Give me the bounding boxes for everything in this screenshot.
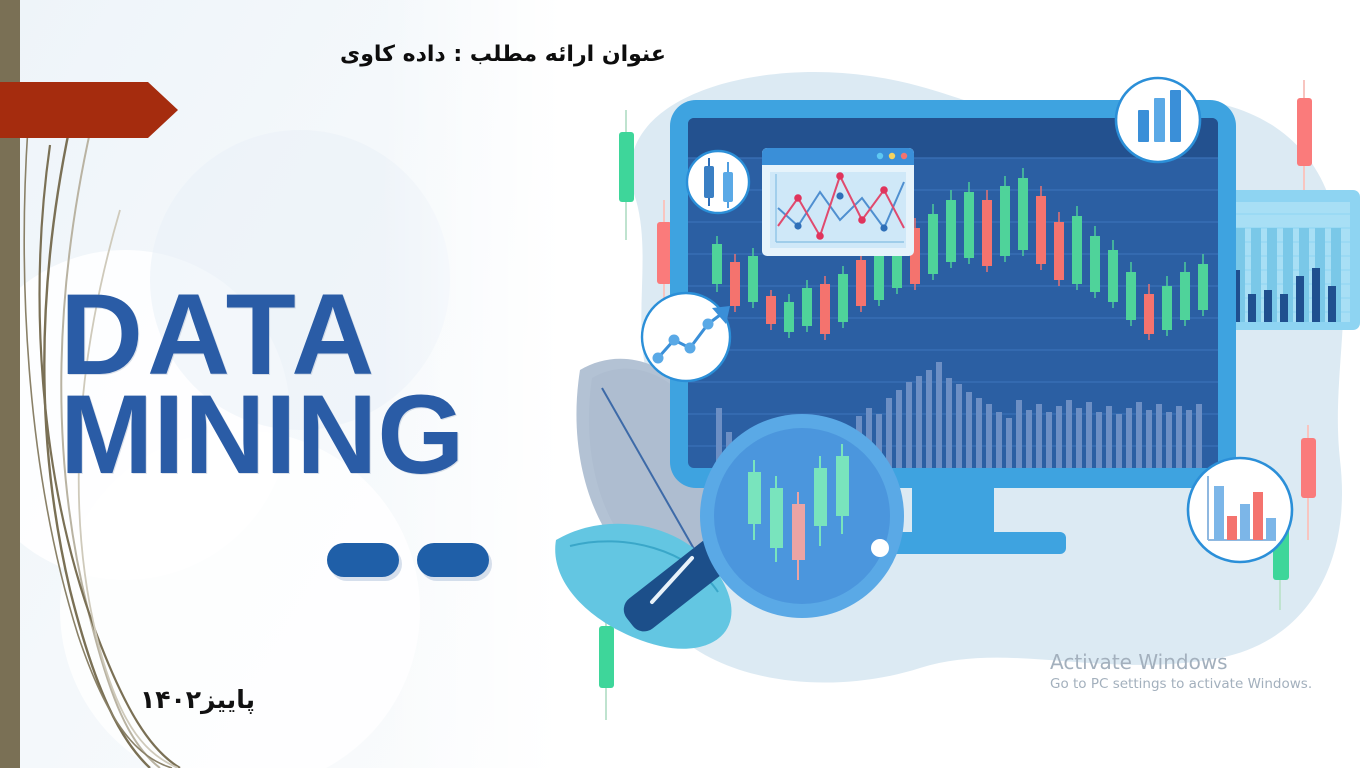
watermark-subtitle: Go to PC settings to activate Windows.	[1050, 674, 1350, 694]
bar-chart-icon	[1138, 110, 1149, 142]
logo-pill-1	[327, 543, 399, 577]
candlestick-icon-circle	[687, 151, 749, 213]
candlestick-icon	[704, 166, 714, 198]
bar-chart-color-icon-circle	[1188, 458, 1292, 562]
line-chart-window	[762, 148, 914, 256]
bar-chart-icon-circle	[1116, 78, 1200, 162]
bar-chart-color-icon	[1214, 486, 1224, 540]
red-arrow-banner	[0, 82, 178, 138]
window-dot-blue	[877, 153, 883, 159]
trending-up-icon-circle	[642, 293, 730, 381]
data-mining-logo: DATA MINING	[60, 283, 510, 486]
presentation-slide: DATA MINING عنوان ارائه مطلب : داده کاوی…	[0, 0, 1366, 768]
activate-windows-watermark: Activate Windows Go to PC settings to ac…	[1050, 650, 1350, 694]
watermark-title: Activate Windows	[1050, 650, 1350, 674]
window-dot-yellow	[889, 153, 895, 159]
slide-date: پاییز۱۴۰۲	[140, 685, 255, 714]
window-dot-red	[901, 153, 907, 159]
logo-pill-2	[417, 543, 489, 577]
logo-pill-row	[327, 543, 489, 577]
data-mining-monitor-illustration	[540, 40, 1366, 720]
logo-line-mining: MINING	[60, 383, 510, 486]
